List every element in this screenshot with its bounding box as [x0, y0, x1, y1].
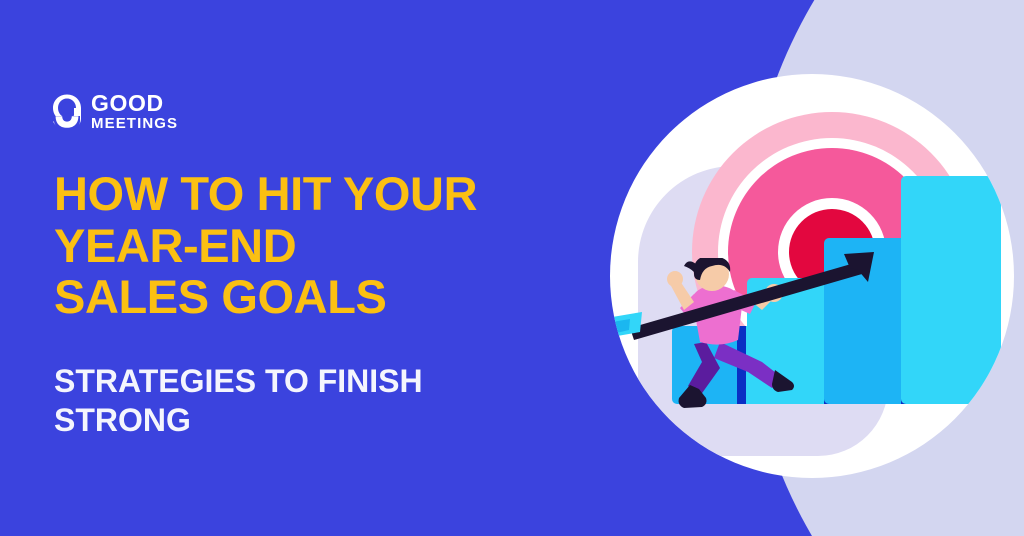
goal-target-bar-chart-illustration [610, 74, 1014, 478]
headline-line-2: YEAR-END [54, 220, 574, 272]
g-mark-icon [52, 94, 82, 130]
headline-line-1: HOW TO HIT YOUR [54, 168, 574, 220]
brand-name-line1: GOOD [91, 92, 178, 116]
bar-4-face [901, 176, 1001, 404]
headline-line-3: SALES GOALS [54, 271, 574, 323]
bar-4 [901, 176, 1001, 404]
arrow-dart-icon [610, 252, 882, 348]
page-title: HOW TO HIT YOUR YEAR-END SALES GOALS [54, 168, 574, 323]
subhead-line-1: STRATEGIES TO FINISH [54, 362, 574, 401]
brand-wordmark: GOOD MEETINGS [91, 92, 178, 132]
marketing-banner: GOOD MEETINGS HOW TO HIT YOUR YEAR-END S… [0, 0, 1024, 536]
brand-logo[interactable]: GOOD MEETINGS [52, 92, 178, 132]
page-subtitle: STRATEGIES TO FINISH STRONG [54, 362, 574, 440]
subhead-line-2: STRONG [54, 401, 574, 440]
brand-name-line2: MEETINGS [91, 116, 178, 132]
